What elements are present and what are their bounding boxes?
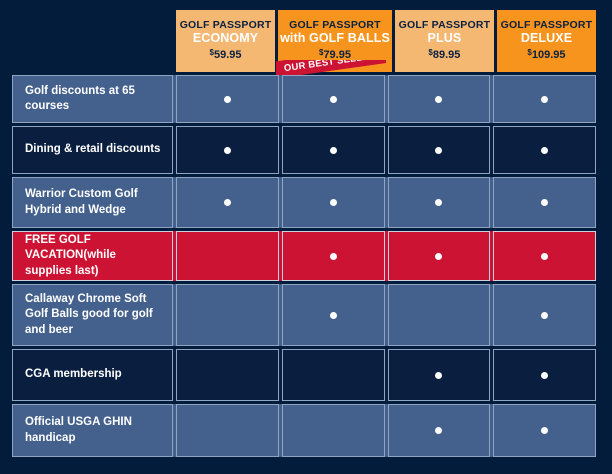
plan-title-deluxe: GOLF PASSPORT [501, 20, 593, 31]
feature-cell [282, 349, 385, 401]
plan-title-golf-balls: GOLF PASSPORT [289, 20, 381, 31]
included-dot-icon [435, 253, 442, 260]
table-row: FREE GOLF VACATION(while supplies last) [12, 231, 596, 281]
feature-label: Official USGA GHIN handicap [12, 404, 173, 457]
feature-cell [388, 284, 491, 346]
included-dot-icon [541, 312, 548, 319]
feature-cell [176, 177, 279, 228]
feature-cell [282, 126, 385, 174]
feature-cell [282, 284, 385, 346]
plan-subtitle-plus: PLUS [428, 32, 462, 46]
feature-label: CGA membership [12, 349, 173, 401]
feature-cell [388, 126, 491, 174]
feature-cell [493, 231, 596, 281]
included-dot-icon [435, 147, 442, 154]
included-dot-icon [224, 147, 231, 154]
included-dot-icon [541, 147, 548, 154]
plan-comparison-table: GOLF PASSPORT ECONOMY $59.95 GOLF PASSPO… [0, 0, 612, 474]
header-corner-spacer [12, 10, 173, 72]
plan-price-deluxe: $109.95 [527, 49, 565, 62]
feature-cell [493, 349, 596, 401]
feature-cell [388, 177, 491, 228]
feature-cell [282, 177, 385, 228]
included-dot-icon [435, 372, 442, 379]
plan-subtitle-deluxe: DELUXE [521, 32, 572, 46]
feature-label-line1: FREE GOLF VACATION [25, 234, 91, 261]
price-value-deluxe: 109.95 [532, 49, 566, 61]
included-dot-icon [541, 96, 548, 103]
included-dot-icon [541, 427, 548, 434]
feature-cell [493, 126, 596, 174]
feature-cell [388, 349, 491, 401]
price-value-plus: 89.95 [433, 49, 461, 61]
included-dot-icon [330, 312, 337, 319]
feature-cell [493, 404, 596, 457]
feature-rows: Golf discounts at 65 coursesDining & ret… [12, 75, 596, 460]
plan-title-economy: GOLF PASSPORT [180, 20, 272, 31]
plan-subtitle-golf-balls: with GOLF BALLS [280, 32, 390, 46]
feature-cell [176, 75, 279, 123]
feature-cell [493, 177, 596, 228]
included-dot-icon [330, 96, 337, 103]
table-row: Dining & retail discounts [12, 126, 596, 174]
plan-header-economy[interactable]: GOLF PASSPORT ECONOMY $59.95 [176, 10, 275, 72]
included-dot-icon [224, 199, 231, 206]
included-dot-icon [330, 199, 337, 206]
feature-cell [176, 284, 279, 346]
table-row: Callaway Chrome Soft Golf Balls good for… [12, 284, 596, 346]
included-dot-icon [224, 96, 231, 103]
feature-cell [388, 75, 491, 123]
feature-cell [282, 231, 385, 281]
table-row: Golf discounts at 65 courses [12, 75, 596, 123]
feature-cell [388, 404, 491, 457]
feature-label: Dining & retail discounts [12, 126, 173, 174]
feature-label: Warrior Custom Golf Hybrid and Wedge [12, 177, 173, 228]
price-value-economy: 59.95 [214, 49, 242, 61]
feature-label: Callaway Chrome Soft Golf Balls good for… [12, 284, 173, 346]
feature-cell [176, 126, 279, 174]
plan-price-economy: $59.95 [210, 49, 242, 62]
feature-label: FREE GOLF VACATION(while supplies last) [12, 231, 173, 281]
plan-subtitle-economy: ECONOMY [193, 32, 258, 46]
included-dot-icon [541, 253, 548, 260]
plan-price-golf-balls: $79.95 [319, 49, 351, 62]
plan-header-row: GOLF PASSPORT ECONOMY $59.95 GOLF PASSPO… [12, 10, 596, 72]
feature-cell [282, 75, 385, 123]
plan-price-plus: $89.95 [428, 49, 460, 62]
included-dot-icon [435, 199, 442, 206]
feature-cell [493, 284, 596, 346]
plan-header-golf-balls[interactable]: GOLF PASSPORT with GOLF BALLS $79.95 [278, 10, 392, 72]
included-dot-icon [435, 96, 442, 103]
plan-header-plus[interactable]: GOLF PASSPORT PLUS $89.95 [395, 10, 494, 72]
plan-title-plus: GOLF PASSPORT [399, 20, 491, 31]
price-value-golf-balls: 79.95 [323, 49, 351, 61]
feature-cell [388, 231, 491, 281]
included-dot-icon [541, 199, 548, 206]
table-row: Official USGA GHIN handicap [12, 404, 596, 457]
included-dot-icon [541, 372, 548, 379]
feature-cell [282, 404, 385, 457]
included-dot-icon [330, 147, 337, 154]
table-row: CGA membership [12, 349, 596, 401]
feature-cell [176, 404, 279, 457]
feature-cell [176, 349, 279, 401]
feature-label: Golf discounts at 65 courses [12, 75, 173, 123]
plan-header-deluxe[interactable]: GOLF PASSPORT DELUXE $109.95 [497, 10, 596, 72]
feature-cell [176, 231, 279, 281]
feature-cell [493, 75, 596, 123]
table-row: Warrior Custom Golf Hybrid and Wedge [12, 177, 596, 228]
included-dot-icon [330, 253, 337, 260]
included-dot-icon [435, 427, 442, 434]
